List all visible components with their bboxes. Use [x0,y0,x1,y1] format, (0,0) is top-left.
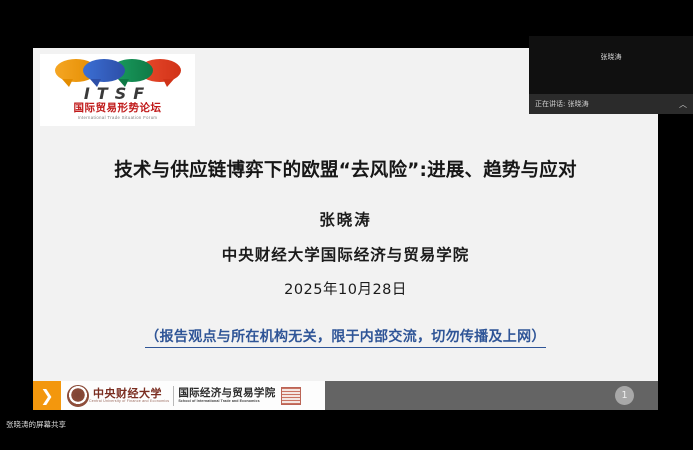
chevron-right-icon: ❯ [33,381,61,410]
school-name: 国际经济与贸易学院 School of International Trade … [178,388,275,403]
university-seal-icon [67,385,89,407]
school-name-cn: 国际经济与贸易学院 [178,388,275,399]
itsf-name-cn: 国际贸易形势论坛 [74,103,162,115]
university-name: 中央财经大学 Central University of Finance and… [89,388,169,404]
slide-affiliation: 中央财经大学国际经济与贸易学院 [33,243,658,265]
slide-footer: ❯ 中央财经大学 Central University of Finance a… [33,381,658,410]
slide-author: 张晓涛 [33,208,658,230]
speaking-status-text: 正在讲话: 张晓涛 [535,99,589,109]
itsf-logo: ITSF 国际贸易形势论坛 International Trade Situat… [40,54,195,126]
screen-share-status: 张晓涛的屏幕共享 [6,419,66,430]
bubble-blue-icon [83,59,125,82]
chevron-up-icon[interactable]: ︿ [679,99,687,110]
university-name-en: Central University of Finance and Econom… [89,399,169,403]
slide-title: 技术与供应链博弈下的欧盟“去风险”:进展、趋势与应对 [33,156,658,182]
slide-page-number: 1 [615,386,634,405]
footer-divider [173,386,174,406]
university-name-cn: 中央财经大学 [93,388,169,400]
app-root: ITSF 国际贸易形势论坛 International Trade Situat… [0,0,693,450]
slide-footer-branding: ❯ 中央财经大学 Central University of Finance a… [33,381,325,410]
participant-name: 张晓涛 [529,52,693,62]
slide-disclaimer-text: （报告观点与所在机构无关，限于内部交流，切勿传播及上网） [145,329,545,348]
speaking-status-bar[interactable]: 正在讲话: 张晓涛 ︿ [529,94,693,114]
itsf-name-en: International Trade Situation Forum [78,115,158,120]
itsf-acronym: ITSF [84,86,151,102]
slide-date: 2025年10月28日 [33,278,658,299]
slide-disclaimer: （报告观点与所在机构无关，限于内部交流，切勿传播及上网） [33,326,658,346]
school-name-en: School of International Trade and Econom… [178,399,275,403]
video-panel[interactable]: 张晓涛 正在讲话: 张晓涛 ︿ [529,36,693,114]
itsf-bubbles-icon [55,59,181,85]
participant-video-tile[interactable]: 张晓涛 [529,36,693,94]
red-seal-stamp-icon [281,387,301,405]
